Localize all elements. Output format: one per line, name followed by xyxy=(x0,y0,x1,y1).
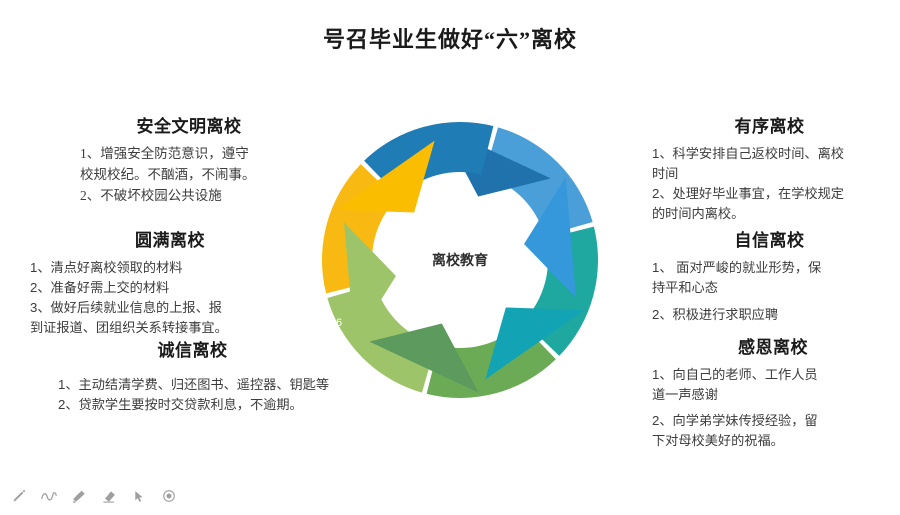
block-line: 校规校纪。不酗酒，不闹事。 xyxy=(80,165,320,186)
block-line: 2、处理好毕业事宜，在学校规定 xyxy=(652,184,887,204)
cycle-number-02: 02 xyxy=(522,275,534,287)
text-block-confident: 自信离校 1、 面对严峻的就业形势，保 持平和心态 2、积极进行求职应聘 xyxy=(652,226,887,325)
highlighter-icon[interactable] xyxy=(68,485,90,507)
text-block-grateful: 感恩离校 1、向自己的老师、工作人员 道一声感谢 2、向学弟学妹传授经验，留 下… xyxy=(652,333,894,451)
block-line: 2、积极进行求职应聘 xyxy=(652,305,887,325)
block-heading-safe: 安全文明离校 xyxy=(58,112,320,137)
presentation-slide: 号召毕业生做好“六”离校 安全文明离校 1、增强安全防范意识，遵守 校规校纪。不… xyxy=(0,0,900,515)
cycle-number-06: 06 xyxy=(330,317,342,329)
block-body-perfect: 1、清点好离校领取的材料 2、准备好需上交的材料 3、做好后续就业信息的上报、报… xyxy=(30,258,310,338)
block-line: 持平和心态 xyxy=(652,278,887,298)
block-line: 的时间内离校。 xyxy=(652,204,887,224)
block-line: 2、不破坏校园公共设施 xyxy=(80,186,320,207)
block-line: 道一声感谢 xyxy=(652,385,894,405)
block-line: 2、向学弟学妹传授经验，留 xyxy=(652,411,894,431)
eraser-icon[interactable] xyxy=(98,485,120,507)
cycle-diagram-svg: 010203040506 xyxy=(300,100,620,420)
ink-toolbar xyxy=(8,483,180,509)
block-heading-confident: 自信离校 xyxy=(652,226,887,251)
squiggle-icon[interactable] xyxy=(38,485,60,507)
block-line: 下对母校美好的祝福。 xyxy=(652,431,894,451)
pen-icon[interactable] xyxy=(8,485,30,507)
laser-pointer-icon[interactable] xyxy=(158,485,180,507)
cycle-number-03: 03 xyxy=(567,357,579,369)
text-block-ordered: 有序离校 1、科学安排自己返校时间、离校 时间 2、处理好毕业事宜，在学校规定 … xyxy=(652,112,887,224)
block-heading-perfect: 圆满离校 xyxy=(30,226,310,251)
block-line: 2、准备好需上交的材料 xyxy=(30,278,310,298)
block-body-grateful: 1、向自己的老师、工作人员 道一声感谢 2、向学弟学妹传授经验，留 下对母校美好… xyxy=(652,365,894,451)
page-title: 号召毕业生做好“六”离校 xyxy=(0,22,900,54)
block-heading-grateful: 感恩离校 xyxy=(652,333,894,358)
text-block-perfect: 圆满离校 1、清点好离校领取的材料 2、准备好需上交的材料 3、做好后续就业信息… xyxy=(30,226,310,338)
block-line: 3、做好后续就业信息的上报、报 xyxy=(30,298,310,318)
cursor-icon[interactable] xyxy=(128,485,150,507)
block-heading-ordered: 有序离校 xyxy=(652,112,887,137)
block-body-ordered: 1、科学安排自己返校时间、离校 时间 2、处理好毕业事宜，在学校规定 的时间内离… xyxy=(652,144,887,224)
block-line: 1、向自己的老师、工作人员 xyxy=(652,365,894,385)
cycle-diagram: 010203040506 离校教育 xyxy=(300,100,620,420)
block-line: 1、清点好离校领取的材料 xyxy=(30,258,310,278)
block-body-confident: 1、 面对严峻的就业形势，保 持平和心态 2、积极进行求职应聘 xyxy=(652,258,887,325)
block-line: 1、科学安排自己返校时间、离校 xyxy=(652,144,887,164)
block-line: 1、增强安全防范意识，遵守 xyxy=(80,144,320,165)
block-line: 1、 面对严峻的就业形势，保 xyxy=(652,258,887,278)
block-line: 时间 xyxy=(652,164,887,184)
block-body-safe: 1、增强安全防范意识，遵守 校规校纪。不酗酒，不闹事。 2、不破坏校园公共设施 xyxy=(58,144,320,207)
cycle-number-01: 01 xyxy=(437,233,449,245)
text-block-safe: 安全文明离校 1、增强安全防范意识，遵守 校规校纪。不酗酒，不闹事。 2、不破坏… xyxy=(58,112,320,207)
